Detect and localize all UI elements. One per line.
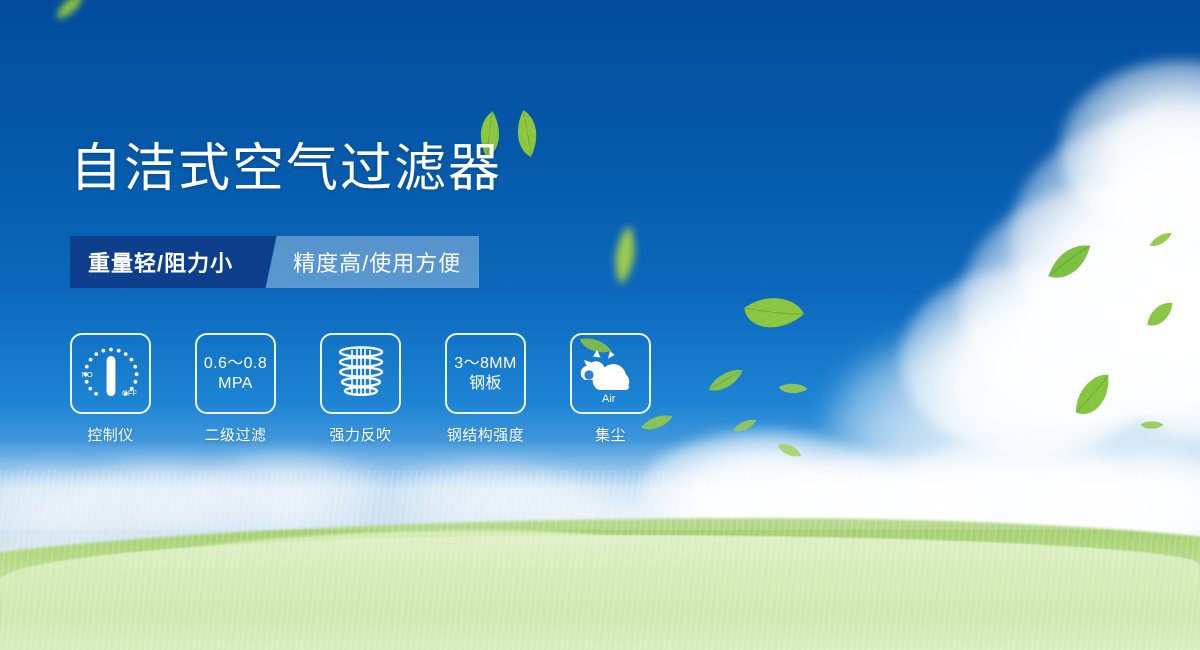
leaf-icon	[1064, 370, 1124, 426]
feature-box[interactable]: NO OFF	[70, 333, 151, 414]
cloud-shape	[470, 478, 670, 568]
cloud-shape	[1020, 350, 1200, 510]
hill-far	[0, 518, 1200, 650]
cloud-air-icon: Air	[577, 344, 645, 404]
cloud-shape	[900, 265, 1160, 455]
leaf-icon	[48, 0, 92, 27]
subtitle-secondary: 精度高/使用方便	[289, 236, 479, 288]
feature-text-line2: MPA	[218, 374, 253, 394]
leaf-icon	[1143, 295, 1176, 335]
feature-text-line1: 0.6～0.8	[204, 354, 267, 374]
feature-label: 集尘	[595, 424, 626, 445]
hill-mid	[0, 530, 720, 650]
subtitle-primary: 重量轻/阻力小	[70, 236, 255, 288]
cloud-shape	[380, 462, 600, 562]
cloud-shape	[560, 490, 880, 580]
subtitle-bar: 重量轻/阻力小 精度高/使用方便	[70, 236, 479, 288]
feature-text-line1: 3～8MM	[454, 354, 516, 374]
sprout-leaf-right-icon	[509, 108, 546, 161]
feature-label: 二级过滤	[204, 424, 266, 445]
filter-stack-icon	[330, 343, 392, 405]
feature-label: 控制仪	[87, 424, 134, 445]
leaf-icon	[776, 377, 809, 401]
cloud-shape	[1020, 455, 1200, 565]
cloud-shape	[0, 470, 150, 565]
leaf-icon	[703, 362, 749, 399]
subtitle-divider	[255, 236, 289, 288]
horizon-haze	[0, 440, 1200, 530]
feature-item-backblow[interactable]: 强力反吹	[320, 333, 401, 445]
hero-banner: 自洁式空气过滤器 重量轻/阻力小 精度高/使用方便	[0, 0, 1200, 650]
cloud-shape	[180, 452, 390, 560]
leaf-icon	[730, 415, 759, 437]
feature-box[interactable]	[320, 333, 401, 414]
leaf-icon	[1146, 228, 1176, 252]
feature-text-line2: 钢板	[469, 374, 502, 394]
feature-item-steel[interactable]: 3～8MM 钢板 钢结构强度	[445, 333, 526, 445]
leaf-icon	[608, 221, 643, 290]
hill-near	[0, 535, 1200, 650]
cloud-shape	[880, 440, 1140, 560]
cloud-shape	[1060, 60, 1200, 240]
leaf-icon	[1043, 233, 1095, 294]
feature-label: 强力反吹	[329, 424, 391, 445]
cloud-shape	[960, 185, 1200, 425]
feature-box[interactable]: Air	[570, 333, 651, 414]
cloud-shape	[830, 330, 1130, 510]
feature-label: 钢结构强度	[447, 424, 525, 445]
feature-box[interactable]: 0.6～0.8 MPA	[195, 333, 276, 414]
cloud-shape	[760, 455, 990, 560]
feature-item-control[interactable]: NO OFF 控制仪	[70, 333, 151, 445]
feature-box[interactable]: 3～8MM 钢板	[445, 333, 526, 414]
page-title: 自洁式空气过滤器	[70, 143, 502, 195]
cloud-shape	[60, 460, 260, 560]
cloud-shape	[640, 430, 890, 550]
cloud-shape	[1010, 112, 1200, 362]
cloud-shape	[1100, 240, 1200, 440]
leaf-icon	[733, 279, 810, 354]
dial-off-label: OFF	[122, 388, 137, 397]
feature-list: NO OFF 控制仪 0.6～0.8 MPA 二级过滤	[70, 333, 651, 445]
leaf-icon	[1139, 416, 1165, 435]
leaf-icon	[772, 434, 806, 468]
dial-on-label: NO	[81, 370, 92, 379]
grass-texture	[0, 470, 1200, 650]
feature-item-dust[interactable]: Air 集尘	[570, 333, 651, 445]
air-label: Air	[602, 393, 616, 404]
feature-item-pressure[interactable]: 0.6～0.8 MPA 二级过滤	[195, 333, 276, 445]
control-dial-icon: NO OFF	[78, 343, 144, 405]
